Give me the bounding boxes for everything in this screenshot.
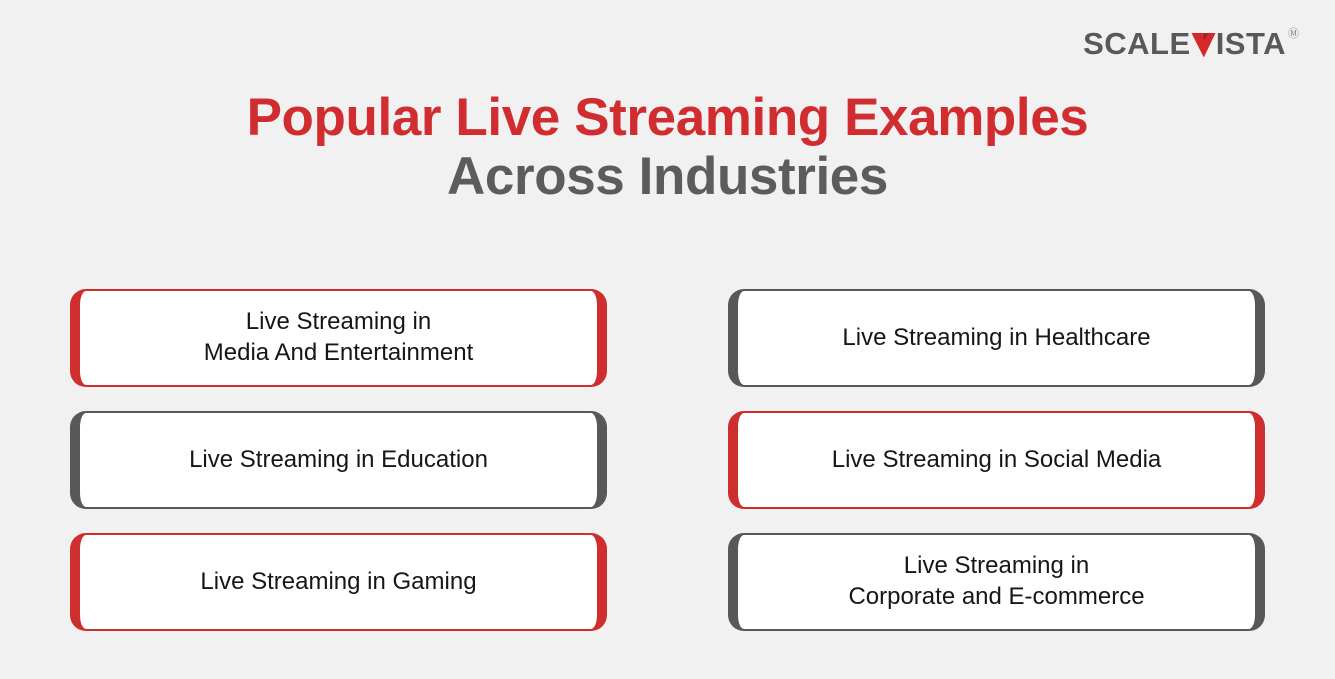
page-title-line-2: Across Industries xyxy=(0,147,1335,206)
industry-card-label: Live Streaming in Social Media xyxy=(832,445,1162,476)
industry-card-healthcare[interactable]: Live Streaming in Healthcare xyxy=(728,289,1265,387)
brand-wordmark: SCALE ISTA xyxy=(1083,28,1286,59)
industry-card-corporate-and-ecommerce[interactable]: Live Streaming in Corporate and E-commer… xyxy=(728,533,1265,631)
brand-name-part-1: SCALE xyxy=(1083,28,1191,59)
industry-card-grid: Live Streaming in Media And Entertainmen… xyxy=(70,289,1265,631)
brand-name-part-2: ISTA xyxy=(1216,28,1286,59)
brand-logo: SCALE ISTA Ⓜ xyxy=(1083,28,1299,59)
industry-card-social-media[interactable]: Live Streaming in Social Media xyxy=(728,411,1265,509)
industry-card-label: Live Streaming in Media And Entertainmen… xyxy=(204,307,474,368)
page-title: Popular Live Streaming Examples Across I… xyxy=(0,88,1335,207)
industry-card-education[interactable]: Live Streaming in Education xyxy=(70,411,607,509)
industry-card-label: Live Streaming in Corporate and E-commer… xyxy=(848,551,1144,612)
industry-card-label: Live Streaming in Education xyxy=(189,445,488,476)
industry-card-label: Live Streaming in Healthcare xyxy=(842,323,1150,354)
circled-trademark-icon: Ⓜ xyxy=(1288,29,1299,40)
industry-card-gaming[interactable]: Live Streaming in Gaming xyxy=(70,533,607,631)
red-checkmark-v-icon xyxy=(1190,30,1217,60)
page-title-line-1: Popular Live Streaming Examples xyxy=(0,88,1335,147)
industry-card-media-and-entertainment[interactable]: Live Streaming in Media And Entertainmen… xyxy=(70,289,607,387)
industry-card-label: Live Streaming in Gaming xyxy=(200,567,476,598)
